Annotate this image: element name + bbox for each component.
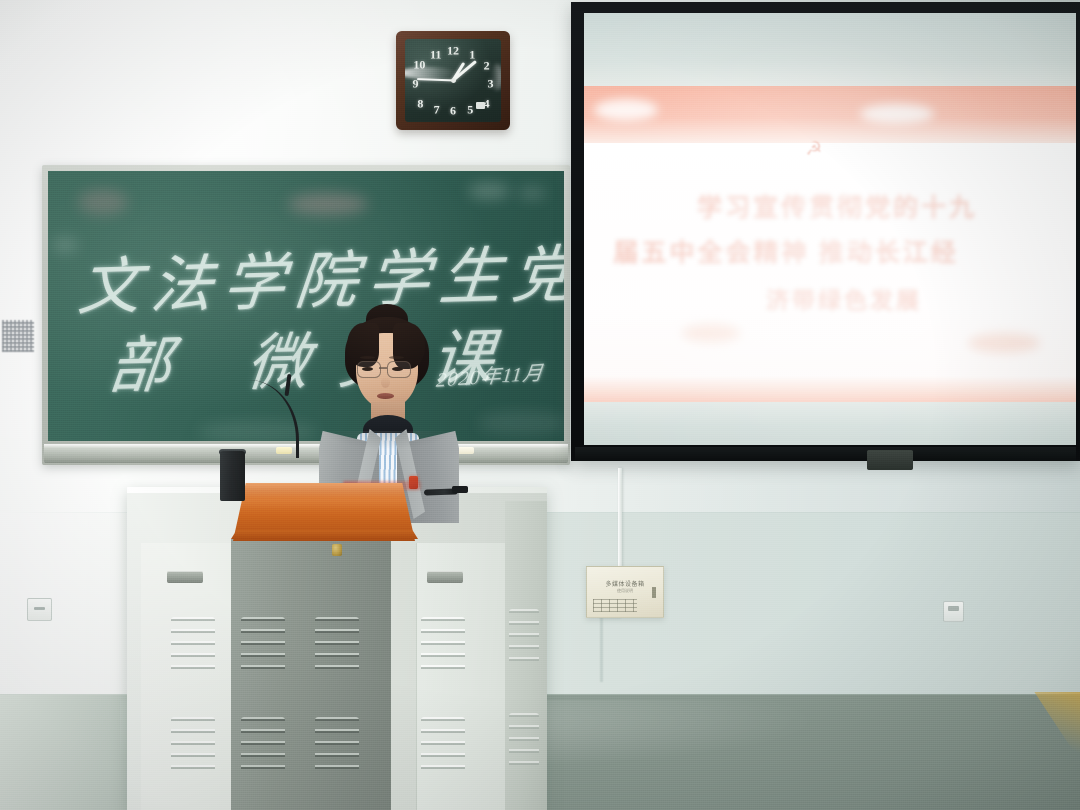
light-switch[interactable] bbox=[27, 598, 52, 621]
power-outlet[interactable] bbox=[943, 601, 964, 622]
classroom-scene: 12 1 2 3 4 5 6 7 8 9 10 11 bbox=[0, 0, 1080, 810]
eye-left bbox=[362, 367, 373, 371]
blackboard-surface: 文法学院学生党支 部 微党课 2020年11月 bbox=[48, 171, 564, 441]
chalk-smudge bbox=[478, 411, 564, 435]
wall-clock: 12 1 2 3 4 5 6 7 8 9 10 11 bbox=[396, 31, 510, 130]
clock-numeral-11: 11 bbox=[430, 47, 441, 62]
chalk-smudge bbox=[78, 189, 128, 215]
slide-cloud-graphic bbox=[860, 104, 934, 124]
clock-face: 12 1 2 3 4 5 6 7 8 9 10 11 bbox=[405, 39, 501, 122]
lectern-desk-front-edge bbox=[231, 530, 418, 539]
lectern-handle-right[interactable] bbox=[427, 571, 463, 583]
lectern-vent bbox=[241, 717, 285, 777]
chalk-smudge bbox=[52, 237, 78, 253]
equipment-plaque: 多媒体设备箱 使用说明 bbox=[586, 566, 664, 618]
lectern-vent bbox=[241, 617, 285, 677]
chalk-smudge bbox=[288, 193, 368, 215]
clock-numeral-5: 5 bbox=[467, 103, 473, 118]
blackboard: 文法学院学生党支 部 微党课 2020年11月 bbox=[42, 165, 570, 465]
clock-glare bbox=[405, 67, 457, 79]
lectern-vent bbox=[509, 713, 539, 771]
plaque-table bbox=[593, 599, 637, 612]
chalk-tray bbox=[44, 444, 568, 463]
chalk-piece bbox=[276, 447, 292, 454]
lectern-handle-left[interactable] bbox=[167, 571, 203, 583]
clock-glare-right bbox=[491, 64, 501, 90]
projector-screen-surface: ☭ 学习宣传贯彻党的十九 届五中全会精神 推动长江经 济带绿色发展 bbox=[584, 13, 1076, 445]
clock-center-cap bbox=[451, 78, 456, 83]
lectern-vent bbox=[315, 617, 359, 677]
slide-title-line-1: 学习宣传贯彻党的十九 bbox=[697, 188, 977, 224]
screen-mount-bracket bbox=[867, 450, 913, 470]
chalk-smudge bbox=[198, 421, 318, 441]
clock-numeral-8: 8 bbox=[417, 96, 423, 111]
clock-numeral-2: 2 bbox=[484, 59, 490, 74]
lectern-vent bbox=[509, 609, 539, 667]
clock-numeral-7: 7 bbox=[434, 103, 440, 118]
presenter bbox=[311, 309, 465, 509]
remote-control[interactable] bbox=[452, 486, 468, 493]
power-outlet-slot bbox=[948, 606, 959, 611]
light-switch-rocker[interactable] bbox=[34, 607, 45, 610]
slide-cloud-graphic bbox=[968, 333, 1040, 353]
slide-title-line-2: 届五中全会精神 推动长江经 bbox=[614, 233, 959, 269]
lectern-vent bbox=[421, 617, 465, 677]
lectern-vent bbox=[171, 617, 215, 677]
glasses-bridge bbox=[379, 367, 387, 369]
hammer-sickle-icon: ☭ bbox=[805, 138, 822, 161]
projector-screen: ☭ 学习宣传贯彻党的十九 届五中全会精神 推动长江经 济带绿色发展 bbox=[571, 2, 1080, 461]
lectern-vent bbox=[421, 717, 465, 777]
microphone-base[interactable] bbox=[220, 451, 245, 501]
eyebrow-right bbox=[389, 356, 404, 359]
slide-top-band bbox=[584, 13, 1076, 91]
screen-bottom-bar bbox=[575, 447, 1076, 461]
slide-title-line-3: 济带绿色发展 bbox=[766, 281, 922, 315]
slide-bottom-red-band bbox=[584, 376, 1076, 402]
conduit-lower bbox=[600, 614, 603, 682]
clock-date-window bbox=[476, 102, 485, 109]
clock-numeral-6: 6 bbox=[450, 104, 456, 119]
wall-qr-code-icon bbox=[2, 320, 34, 352]
nose bbox=[381, 377, 390, 388]
lectern-vent bbox=[171, 717, 215, 777]
plaque-indicator bbox=[652, 587, 656, 598]
chalk-smudge bbox=[518, 187, 546, 199]
clock-numeral-12: 12 bbox=[447, 43, 459, 58]
eyebrow-left bbox=[360, 356, 375, 359]
mouth bbox=[377, 393, 394, 399]
slide-bottom-band bbox=[584, 402, 1076, 445]
lectern-vent bbox=[315, 717, 359, 777]
chalk-tray-lip bbox=[44, 444, 568, 448]
cable-conduit bbox=[618, 468, 622, 568]
lock-icon[interactable] bbox=[332, 544, 342, 556]
eye-right bbox=[392, 367, 403, 371]
chalk-smudge bbox=[468, 183, 510, 199]
